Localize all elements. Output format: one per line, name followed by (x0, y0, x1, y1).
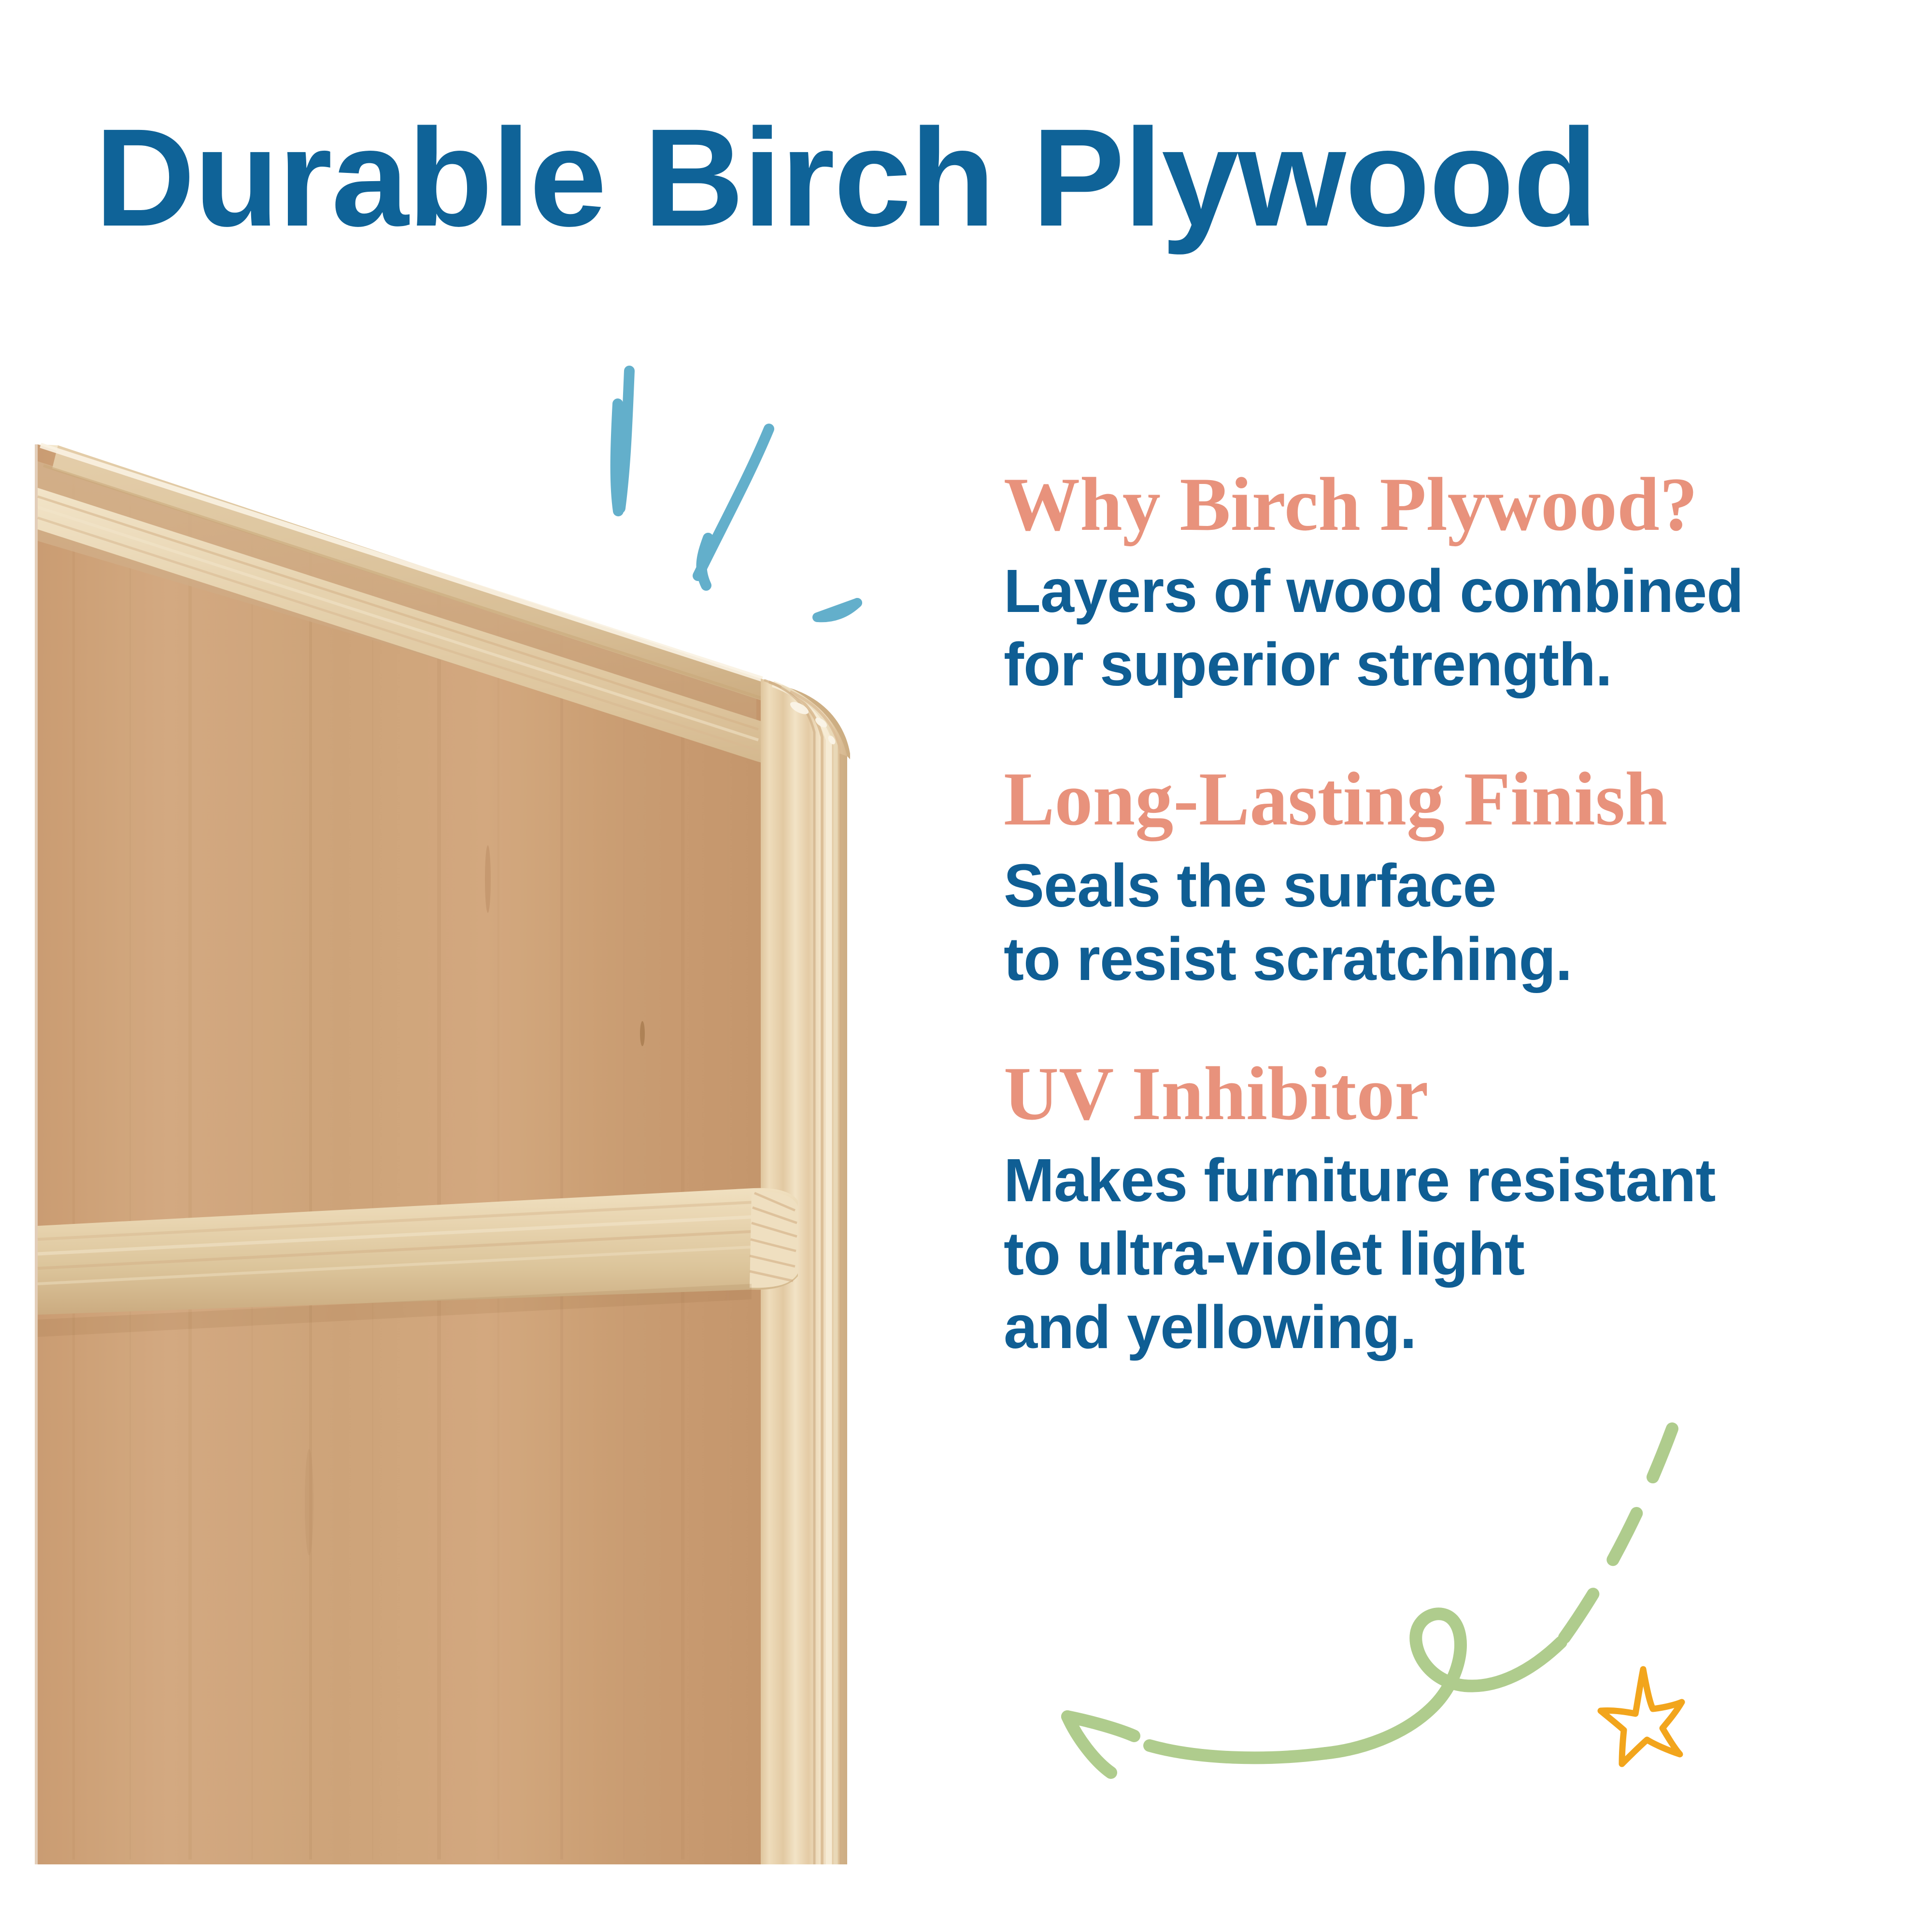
feature-block-why-birch-plywood: Why Birch Plywood? Layers of wood combin… (1004, 464, 1854, 701)
page-title: Durable Birch Plywood (95, 105, 1858, 250)
feature-body-line: Makes furniture resistant (1004, 1144, 1854, 1217)
feature-heading: Why Birch Plywood? (1004, 464, 1854, 546)
feature-body: Layers of wood combined for superior str… (1004, 554, 1854, 701)
feature-list: Why Birch Plywood? Layers of wood combin… (1004, 464, 1854, 1364)
product-photo-birch-plywood-cabinet (0, 415, 908, 1879)
feature-body-line: Layers of wood combined (1004, 554, 1854, 628)
feature-body-line: Seals the surface (1004, 849, 1854, 923)
feature-body-line: for superior strength. (1004, 628, 1854, 701)
feature-body-line: and yellowing. (1004, 1291, 1854, 1364)
feature-body-line: to resist scratching. (1004, 923, 1854, 996)
feature-body-line: to ultra-violet light (1004, 1217, 1854, 1291)
feature-body: Makes furniture resistant to ultra-viole… (1004, 1144, 1854, 1364)
sparkle-lines-icon (580, 357, 898, 618)
feature-heading: UV Inhibitor (1004, 1053, 1854, 1135)
feature-heading: Long-Lasting Finish (1004, 758, 1854, 840)
star-outline-icon (1550, 1623, 1734, 1806)
feature-body: Seals the surface to resist scratching. (1004, 849, 1854, 996)
infographic-canvas: Durable Birch Plywood (0, 0, 1932, 1932)
feature-block-uv-inhibitor: UV Inhibitor Makes furniture resistant t… (1004, 1053, 1854, 1364)
feature-block-long-lasting-finish: Long-Lasting Finish Seals the surface to… (1004, 758, 1854, 996)
